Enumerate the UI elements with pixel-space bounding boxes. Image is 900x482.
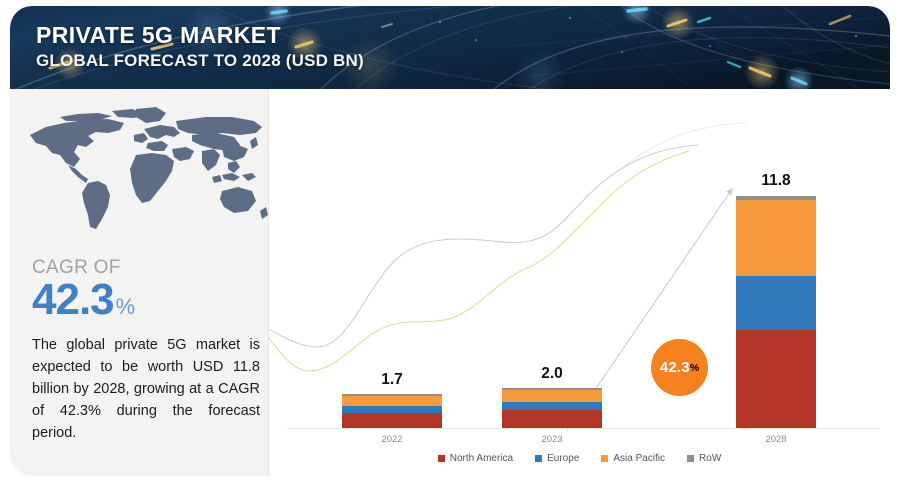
page-title: PRIVATE 5G MARKET: [36, 22, 364, 49]
right-panel: 1.7 2022 2.0 2023 11.8 2028 42.3%: [269, 89, 890, 476]
chart-legend: North America Europe Asia Pacific RoW: [269, 453, 890, 464]
bar-segment-north-america-2028[interactable]: [736, 330, 816, 428]
bar-segment-asia-pacific-2023[interactable]: [502, 390, 602, 402]
market-description: The global private 5G market is expected…: [32, 334, 260, 444]
bar-total-label-2022: 1.7: [342, 371, 442, 389]
legend-item-asia-pacific[interactable]: Asia Pacific: [601, 453, 665, 464]
bar-segment-europe-2022[interactable]: [342, 406, 442, 413]
cagr-value-row: 42.3 %: [32, 276, 257, 324]
header-text-group: PRIVATE 5G MARKET GLOBAL FORECAST TO 202…: [36, 22, 364, 71]
stacked-bar-chart: 1.7 2022 2.0 2023 11.8 2028 42.3%: [269, 89, 890, 476]
bar-2028[interactable]: [736, 196, 816, 428]
legend-swatch-icon: [601, 455, 608, 462]
chart-baseline: [287, 428, 879, 429]
legend-label: Europe: [547, 453, 579, 464]
legend-item-north-america[interactable]: North America: [438, 453, 513, 464]
bar-2022[interactable]: [342, 394, 442, 428]
legend-label: North America: [450, 453, 513, 464]
header-banner: PRIVATE 5G MARKET GLOBAL FORECAST TO 202…: [10, 6, 890, 89]
content-area: CAGR OF 42.3 % The global private 5G mar…: [10, 89, 890, 476]
infographic-card: PRIVATE 5G MARKET GLOBAL FORECAST TO 202…: [10, 6, 890, 476]
x-axis-tick-2028: 2028: [736, 434, 816, 445]
bar-total-label-2028: 11.8: [736, 172, 816, 190]
left-panel: CAGR OF 42.3 % The global private 5G mar…: [10, 89, 268, 476]
legend-swatch-icon: [438, 455, 445, 462]
cagr-callout-bubble[interactable]: 42.3%: [651, 339, 708, 396]
legend-label: Asia Pacific: [613, 453, 665, 464]
cagr-percent-symbol: %: [116, 294, 136, 320]
bar-total-label-2023: 2.0: [502, 365, 602, 383]
bar-segment-europe-2023[interactable]: [502, 402, 602, 410]
cagr-value: 42.3: [32, 276, 114, 324]
bar-segment-north-america-2023[interactable]: [502, 410, 602, 428]
world-map-icon: [16, 103, 268, 243]
x-axis-tick-2023: 2023: [502, 434, 602, 445]
bar-segment-asia-pacific-2022[interactable]: [342, 396, 442, 406]
bar-segment-europe-2028[interactable]: [736, 276, 816, 329]
x-axis-tick-2022: 2022: [342, 434, 442, 445]
cagr-callout-percent: %: [690, 362, 699, 374]
bar-segment-north-america-2022[interactable]: [342, 413, 442, 428]
legend-item-row[interactable]: RoW: [687, 453, 721, 464]
cagr-block: CAGR OF 42.3 %: [32, 257, 257, 324]
bar-segment-asia-pacific-2028[interactable]: [736, 200, 816, 277]
bar-2023[interactable]: [502, 388, 602, 428]
page-subtitle: GLOBAL FORECAST TO 2028 (USD BN): [36, 50, 364, 71]
legend-item-europe[interactable]: Europe: [535, 453, 579, 464]
legend-swatch-icon: [535, 455, 542, 462]
legend-swatch-icon: [687, 455, 694, 462]
cagr-callout-value: 42.3: [660, 359, 690, 376]
infographic-root: PRIVATE 5G MARKET GLOBAL FORECAST TO 202…: [0, 0, 900, 482]
legend-label: RoW: [699, 453, 721, 464]
